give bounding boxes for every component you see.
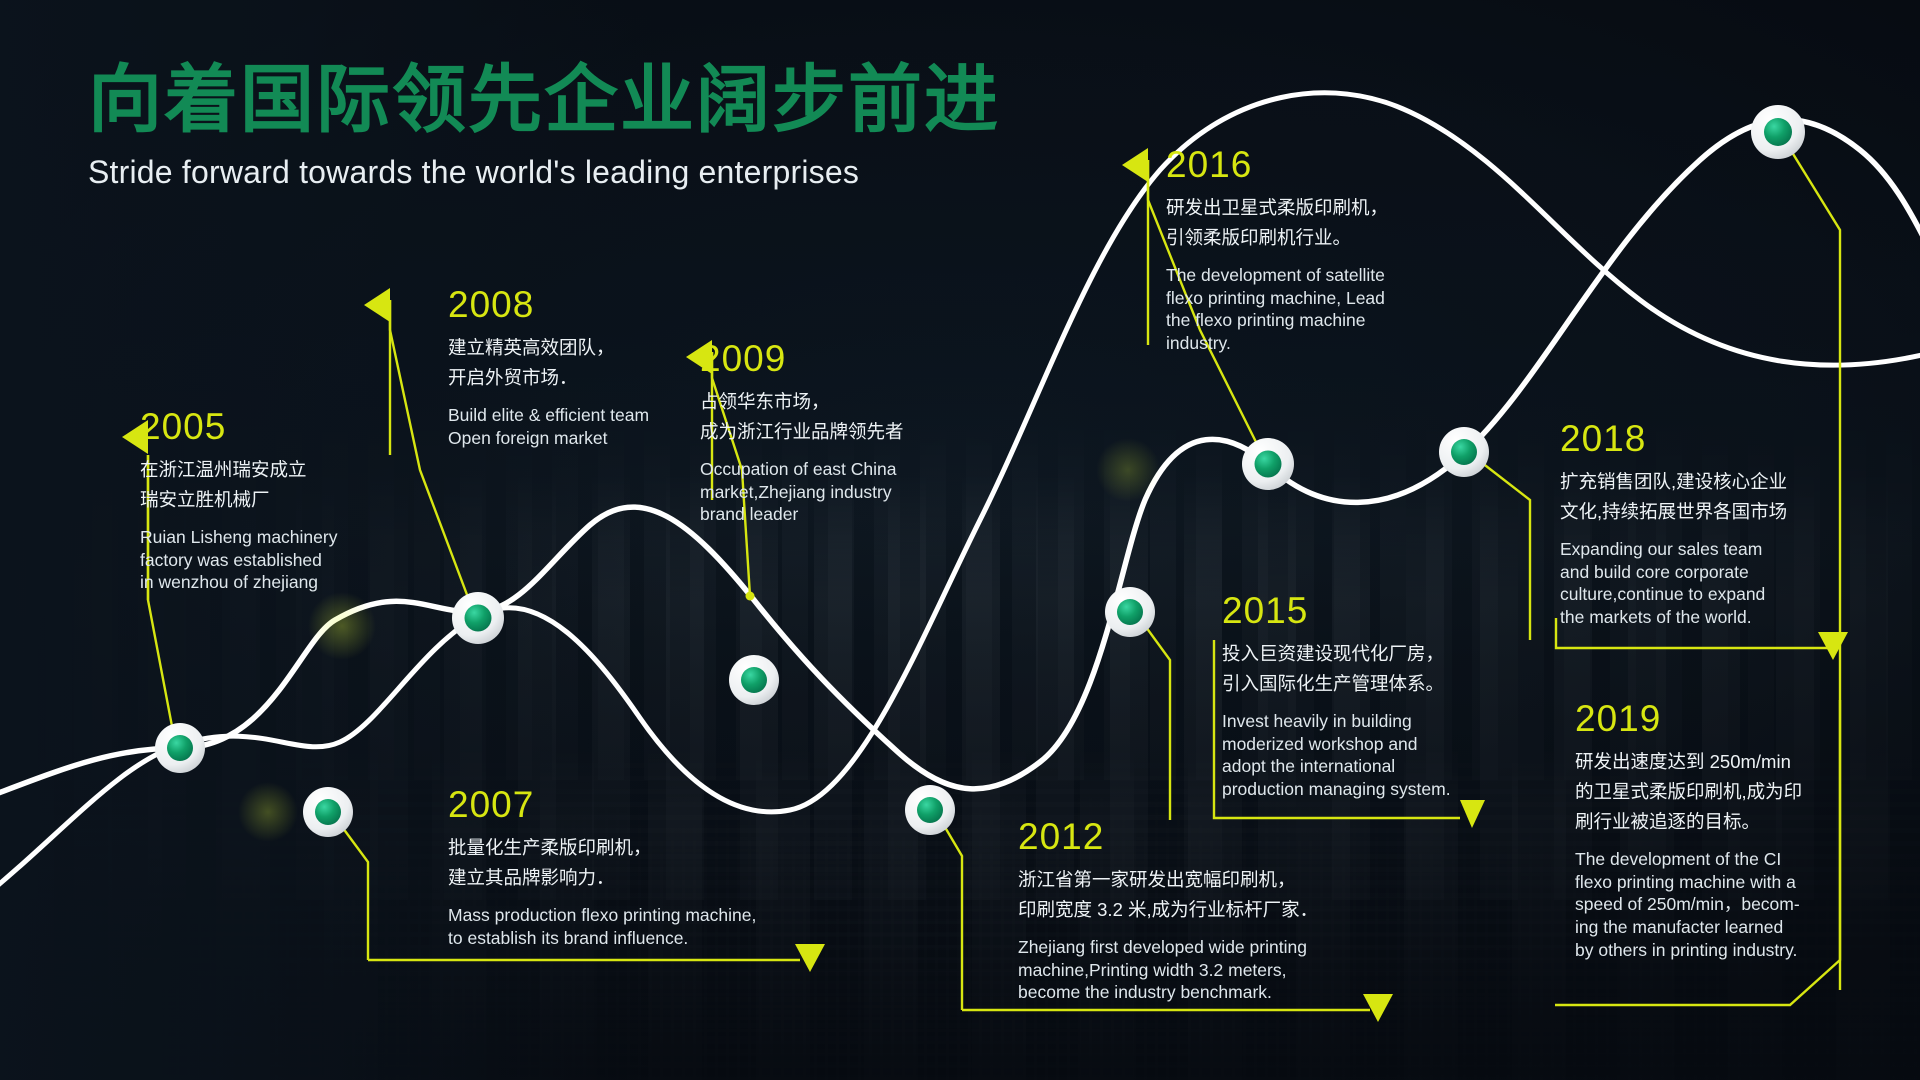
- milestone-2009-en-line-3: brand leader: [700, 503, 904, 526]
- timeline-node-2007[interactable]: [303, 787, 353, 837]
- milestone-2018-en-line-3: culture,continue to expand: [1560, 583, 1787, 606]
- timeline-nodes[interactable]: [155, 105, 1805, 837]
- timeline-node-2019[interactable]: [1751, 105, 1805, 159]
- milestone-2007-en-line-2: to establish its brand influence.: [448, 927, 756, 950]
- milestone-2018-en-line-4: the markets of the world.: [1560, 606, 1787, 629]
- milestone-2016-en-line-2: flexo printing machine, Lead: [1166, 287, 1388, 310]
- milestone-2015[interactable]: 2015 投入巨资建设现代化厂房， 引入国际化生产管理体系。 Invest he…: [1222, 592, 1451, 801]
- year-marker-2008-icon: [364, 288, 390, 322]
- year-marker-2016-icon: [1122, 148, 1148, 182]
- milestone-2015-year: 2015: [1222, 592, 1451, 629]
- milestone-2019-en-line-2: flexo printing machine with a: [1575, 871, 1802, 894]
- milestone-2016-year: 2016: [1166, 146, 1388, 183]
- milestone-2005-cn-line-2: 瑞安立胜机械厂: [140, 485, 337, 515]
- timeline-node-2009[interactable]: [729, 655, 779, 705]
- milestone-2012[interactable]: 2012 浙江省第一家研发出宽幅印刷机， 印刷宽度 3.2 米,成为行业标杆厂家…: [1018, 818, 1318, 1004]
- milestone-2005-en-line-2: factory was established: [140, 549, 337, 572]
- milestone-2009-en-line-1: Occupation of east China: [700, 458, 904, 481]
- milestone-2005-year: 2005: [140, 408, 337, 445]
- milestone-2015-cn-line-1: 投入巨资建设现代化厂房，: [1222, 639, 1451, 669]
- milestone-2007-year: 2007: [448, 786, 756, 823]
- timeline-node-2012[interactable]: [905, 785, 955, 835]
- infographic-canvas: 向着国际领先企业阔步前进 Stride forward towards the …: [0, 0, 1920, 1080]
- milestone-2019-cn-line-2: 的卫星式柔版印刷机,成为印: [1575, 777, 1802, 807]
- timeline-node-2005[interactable]: [155, 723, 205, 773]
- milestone-2012-year: 2012: [1018, 818, 1318, 855]
- connector-origin-dots: [171, 132, 1787, 821]
- milestone-2009-en-line-2: market,Zhejiang industry: [700, 481, 904, 504]
- milestone-2018-cn: 扩充销售团队,建设核心企业 文化,持续拓展世界各国市场: [1560, 467, 1787, 527]
- milestone-2015-en-line-4: production managing system.: [1222, 778, 1451, 801]
- milestone-2012-cn-line-1: 浙江省第一家研发出宽幅印刷机，: [1018, 865, 1318, 895]
- milestone-2018[interactable]: 2018 扩充销售团队,建设核心企业 文化,持续拓展世界各国市场 Expandi…: [1560, 420, 1787, 629]
- milestone-2019-en-line-5: by others in printing industry.: [1575, 939, 1802, 962]
- milestone-2007-cn-line-1: 批量化生产柔版印刷机，: [448, 833, 756, 863]
- milestone-2005-en-line-3: in wenzhou of zhejiang: [140, 571, 337, 594]
- milestone-2008-cn-line-2: 开启外贸市场．: [448, 363, 649, 393]
- milestone-2016[interactable]: 2016 研发出卫星式柔版印刷机， 引领柔版印刷机行业。 The develop…: [1166, 146, 1388, 355]
- milestone-2018-en: Expanding our sales team and build core …: [1560, 538, 1787, 629]
- milestone-2016-cn: 研发出卫星式柔版印刷机， 引领柔版印刷机行业。: [1166, 193, 1388, 253]
- milestone-2019[interactable]: 2019 研发出速度达到 250m/min 的卫星式柔版印刷机,成为印 刷行业被…: [1575, 700, 1802, 962]
- milestone-2007-en-line-1: Mass production flexo printing machine,: [448, 904, 756, 927]
- milestone-2012-cn: 浙江省第一家研发出宽幅印刷机， 印刷宽度 3.2 米,成为行业标杆厂家．: [1018, 865, 1318, 925]
- milestone-2016-en-line-3: the flexo printing machine: [1166, 309, 1388, 332]
- milestone-2008-year: 2008: [448, 286, 649, 323]
- milestone-2019-cn: 研发出速度达到 250m/min 的卫星式柔版印刷机,成为印 刷行业被追逐的目标…: [1575, 747, 1802, 837]
- milestone-2008-en-line-2: Open foreign market: [448, 427, 649, 450]
- timeline-node-2018[interactable]: [1439, 427, 1489, 477]
- milestone-2007-cn-line-2: 建立其品牌影响力．: [448, 863, 756, 893]
- milestone-2008[interactable]: 2008 建立精英高效团队， 开启外贸市场． Build elite & eff…: [448, 286, 649, 449]
- milestone-2012-en-line-2: machine,Printing width 3.2 meters,: [1018, 959, 1318, 982]
- milestone-2015-en-line-1: Invest heavily in building: [1222, 710, 1451, 733]
- milestone-2016-cn-line-1: 研发出卫星式柔版印刷机，: [1166, 193, 1388, 223]
- milestone-2018-cn-line-2: 文化,持续拓展世界各国市场: [1560, 497, 1787, 527]
- timeline-node-2015[interactable]: [1105, 587, 1155, 637]
- milestone-2019-en: The development of the CI flexo printing…: [1575, 848, 1802, 962]
- milestone-2018-cn-line-1: 扩充销售团队,建设核心企业: [1560, 467, 1787, 497]
- milestone-2008-cn: 建立精英高效团队， 开启外贸市场．: [448, 333, 649, 393]
- milestone-2005-en-line-1: Ruian Lisheng machinery: [140, 526, 337, 549]
- milestone-2012-cn-line-2: 印刷宽度 3.2 米,成为行业标杆厂家．: [1018, 895, 1318, 925]
- milestone-2016-cn-line-2: 引领柔版印刷机行业。: [1166, 223, 1388, 253]
- milestone-2007-en: Mass production flexo printing machine, …: [448, 904, 756, 950]
- milestone-2015-en-line-3: adopt the international: [1222, 755, 1451, 778]
- milestone-2008-cn-line-1: 建立精英高效团队，: [448, 333, 649, 363]
- milestone-2005-cn-line-1: 在浙江温州瑞安成立: [140, 455, 337, 485]
- milestone-2019-cn-line-3: 刷行业被追逐的目标。: [1575, 807, 1802, 837]
- milestone-2015-en-line-2: moderized workshop and: [1222, 733, 1451, 756]
- milestone-2019-en-line-3: speed of 250m/min，becom-: [1575, 893, 1802, 916]
- milestone-2019-cn-line-1: 研发出速度达到 250m/min: [1575, 747, 1802, 777]
- year-marker-2012-icon: [1363, 994, 1393, 1022]
- milestone-2012-en: Zhejiang first developed wide printing m…: [1018, 936, 1318, 1004]
- milestone-2012-en-line-3: become the industry benchmark.: [1018, 981, 1318, 1004]
- milestone-2009-cn-line-2: 成为浙江行业品牌领先者: [700, 417, 904, 447]
- milestone-2015-cn: 投入巨资建设现代化厂房， 引入国际化生产管理体系。: [1222, 639, 1451, 699]
- milestone-2016-en: The development of satellite flexo print…: [1166, 264, 1388, 355]
- timeline-node-2008[interactable]: [452, 592, 504, 644]
- milestone-2016-en-line-4: industry.: [1166, 332, 1388, 355]
- milestone-2007[interactable]: 2007 批量化生产柔版印刷机， 建立其品牌影响力． Mass producti…: [448, 786, 756, 949]
- milestone-2007-cn: 批量化生产柔版印刷机， 建立其品牌影响力．: [448, 833, 756, 893]
- milestone-2019-en-line-4: ing the manufacter learned: [1575, 916, 1802, 939]
- timeline-node-2016[interactable]: [1242, 438, 1294, 490]
- milestone-2019-year: 2019: [1575, 700, 1802, 737]
- milestone-2009-cn-line-1: 占领华东市场，: [700, 387, 904, 417]
- milestone-2016-en-line-1: The development of satellite: [1166, 264, 1388, 287]
- milestone-2005-en: Ruian Lisheng machinery factory was esta…: [140, 526, 337, 594]
- milestone-2005[interactable]: 2005 在浙江温州瑞安成立 瑞安立胜机械厂 Ruian Lisheng mac…: [140, 408, 337, 594]
- milestone-2008-en-line-1: Build elite & efficient team: [448, 404, 649, 427]
- milestone-2019-en-line-1: The development of the CI: [1575, 848, 1802, 871]
- milestone-2009[interactable]: 2009 占领华东市场， 成为浙江行业品牌领先者 Occupation of e…: [700, 340, 904, 526]
- milestone-2012-en-line-1: Zhejiang first developed wide printing: [1018, 936, 1318, 959]
- milestone-2005-cn: 在浙江温州瑞安成立 瑞安立胜机械厂: [140, 455, 337, 515]
- milestone-2009-en: Occupation of east China market,Zhejiang…: [700, 458, 904, 526]
- milestone-2009-year: 2009: [700, 340, 904, 377]
- milestone-2018-en-line-2: and build core corporate: [1560, 561, 1787, 584]
- milestone-2015-cn-line-2: 引入国际化生产管理体系。: [1222, 669, 1451, 699]
- year-marker-2015-icon: [1460, 800, 1485, 828]
- milestone-2008-en: Build elite & efficient team Open foreig…: [448, 404, 649, 450]
- year-marker-2018-icon: [1818, 632, 1848, 660]
- milestone-2018-year: 2018: [1560, 420, 1787, 457]
- year-marker-2007-icon: [795, 944, 825, 972]
- milestone-2018-en-line-1: Expanding our sales team: [1560, 538, 1787, 561]
- milestone-2015-en: Invest heavily in building moderized wor…: [1222, 710, 1451, 801]
- milestone-2009-cn: 占领华东市场， 成为浙江行业品牌领先者: [700, 387, 904, 447]
